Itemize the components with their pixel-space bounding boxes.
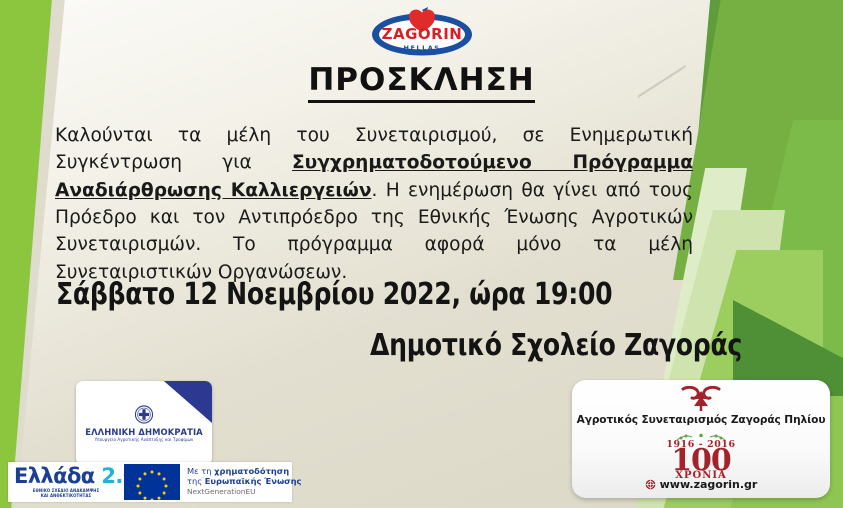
event-venue: Δημοτικό Σχολείο Ζαγοράς bbox=[370, 328, 742, 363]
event-date: Σάββατο 12 Νοεμβρίου 2022, ώρα 19:00 bbox=[56, 277, 612, 312]
green-diagonal-1 bbox=[673, 0, 843, 280]
gov-card-subtitle: Υπουργείο Αγροτικής Ανάπτυξης και Τροφίμ… bbox=[76, 437, 212, 442]
page-title-text: ΠΡΟΣΚΛΗΣΗ bbox=[308, 62, 534, 103]
globe-icon bbox=[645, 479, 656, 493]
eu-funding-programme: NextGenerationEU bbox=[187, 488, 301, 497]
ellada-word: Ελλάδα bbox=[14, 464, 95, 488]
hellenic-republic-card: ΕΛΛΗΝΙΚΗ ΔΗΜΟΚΡΑΤΙΑ Υπουργείο Αγροτικής … bbox=[76, 381, 212, 465]
ellada-version-dot: . bbox=[115, 464, 122, 488]
eu-flag-icon bbox=[124, 464, 180, 500]
cooperative-card: Αγροτικός Συνεταιρισμός Ζαγοράς Πηλίου 1… bbox=[572, 380, 830, 498]
hellenic-republic-emblem-icon bbox=[135, 405, 154, 424]
cooperative-website-text: www.zagorin.gr bbox=[660, 478, 758, 491]
gov-card-title: ΕΛΛΗΝΙΚΗ ΔΗΜΟΚΡΑΤΙΑ bbox=[76, 427, 212, 437]
cooperative-website[interactable]: www.zagorin.gr bbox=[572, 478, 830, 493]
ellada-logo-title: Ελλάδα 2.0 bbox=[14, 466, 118, 487]
gov-card-corner-accent bbox=[156, 381, 212, 423]
eu-stars-icon bbox=[124, 464, 180, 500]
svg-text:HELLAS: HELLAS bbox=[403, 44, 440, 52]
svg-text:ZAGORIN: ZAGORIN bbox=[381, 25, 462, 43]
eu-funding-line-1-plain: Με τη bbox=[187, 466, 214, 476]
cooperative-name: Αγροτικός Συνεταιρισμός Ζαγοράς Πηλίου bbox=[572, 414, 830, 426]
cooperative-tree-mark-icon bbox=[680, 386, 722, 412]
zagorin-logo-icon: ZAGORIN HELLAS bbox=[370, 6, 474, 58]
page-title: ΠΡΟΣΚΛΗΣΗ bbox=[0, 62, 843, 98]
eu-funding-line-2-bold: Ευρωπαϊκής Ένωσης bbox=[205, 476, 302, 486]
eu-funding-line-2-plain: της bbox=[187, 476, 205, 486]
invitation-poster: ZAGORIN HELLAS ΠΡΟΣΚΛΗΣΗ Καλούνται τα μέ… bbox=[0, 0, 843, 508]
eu-funding-line-2: της Ευρωπαϊκής Ένωσης bbox=[187, 477, 301, 487]
eu-funding-strip: Ελλάδα 2.0 ΕΘΝΙΚΟ ΣΧΕΔΙΟ ΑΝΑΚΑΜΨΗΣ ΚΑΙ Α… bbox=[8, 462, 292, 502]
ellada-subtitle-line2: ΚΑΙ ΑΝΘΕΚΤΙΚΟΤΗΤΑΣ bbox=[14, 494, 118, 499]
eu-funding-text: Με τη χρηματοδότηση της Ευρωπαϊκής Ένωση… bbox=[187, 467, 301, 497]
ellada-version-two: 2 bbox=[101, 464, 115, 488]
ellada-2-logo: Ελλάδα 2.0 ΕΘΝΙΚΟ ΣΧΕΔΙΟ ΑΝΑΚΑΜΨΗΣ ΚΑΙ Α… bbox=[8, 466, 118, 499]
eu-funding-line-1-bold: χρηματοδότηση bbox=[214, 466, 289, 476]
invitation-body: Καλούνται τα μέλη του Συνεταιρισμού, σε … bbox=[55, 122, 693, 286]
zagorin-logo: ZAGORIN HELLAS bbox=[370, 6, 474, 58]
